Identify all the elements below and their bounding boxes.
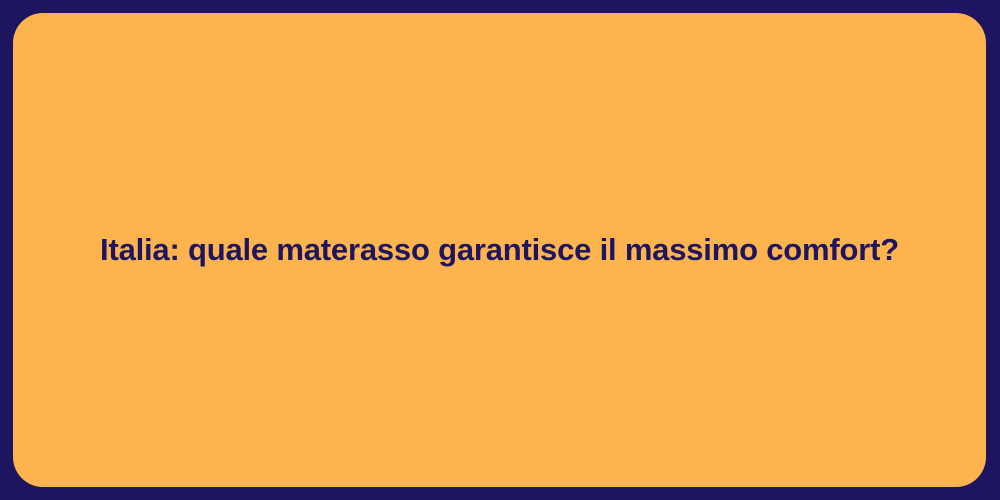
page-title: Italia: quale materasso garantisce il ma… xyxy=(76,231,923,270)
promo-card: Italia: quale materasso garantisce il ma… xyxy=(13,13,986,487)
outer-frame: Italia: quale materasso garantisce il ma… xyxy=(0,0,1000,500)
